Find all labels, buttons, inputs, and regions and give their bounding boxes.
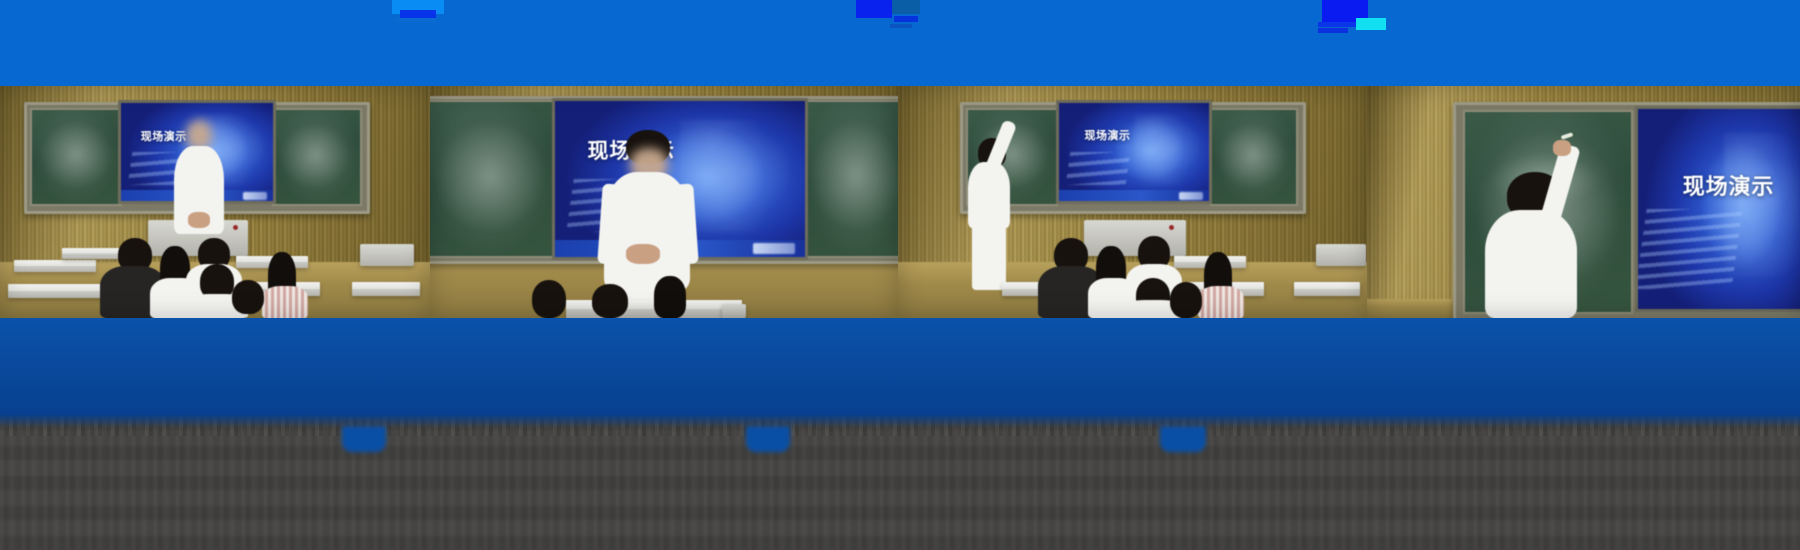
- frame-vignette: [0, 86, 430, 318]
- compression-artifact: [890, 24, 912, 28]
- crowd-texture: [0, 428, 1800, 550]
- video-frame-2[interactable]: 现场演示: [430, 86, 898, 318]
- classroom-video-strip: 现场演示: [0, 86, 1800, 318]
- video-frame-1[interactable]: 现场演示: [0, 86, 430, 318]
- dark-crowd-silhouette-band: [0, 428, 1800, 550]
- compression-artifact: [894, 16, 918, 22]
- video-frame-4[interactable]: 现场演示: [1367, 86, 1800, 318]
- compression-artifact: [856, 0, 892, 18]
- frame-vignette: [430, 86, 898, 318]
- compression-artifact: [1318, 22, 1360, 27]
- compression-artifact: [396, 18, 436, 23]
- compression-artifact: [1318, 28, 1348, 33]
- video-frame-3[interactable]: 现场演示: [898, 86, 1367, 318]
- screenshot-canvas: 现场演示: [0, 0, 1800, 550]
- compression-artifact: [1356, 18, 1386, 30]
- frame-vignette: [1367, 86, 1800, 318]
- top-blue-band: [0, 0, 1800, 86]
- compression-artifact: [892, 0, 920, 14]
- compression-artifact: [400, 10, 436, 18]
- lower-blue-gradient: [0, 318, 1800, 550]
- frame-vignette: [898, 86, 1367, 318]
